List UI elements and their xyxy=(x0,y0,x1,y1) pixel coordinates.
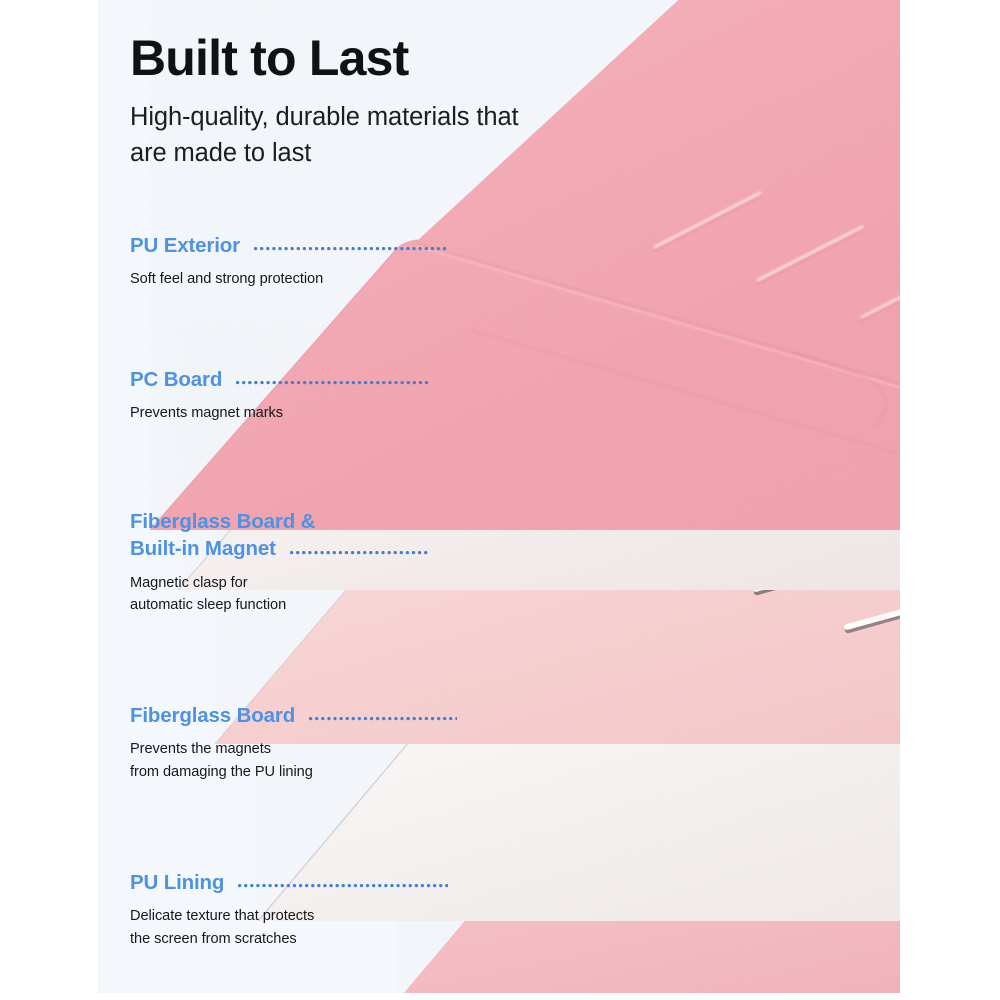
product-feature-page: Built to Last High-quality, durable mate… xyxy=(0,0,1000,1000)
callout-description: Magnetic clasp for automatic sleep funct… xyxy=(130,572,430,616)
callout-title: PU Lining xyxy=(130,869,224,896)
callout-description: Prevents the magnets from damaging the P… xyxy=(130,738,457,782)
callout-description: Soft feel and strong protection xyxy=(130,268,446,290)
callout-description: Delicate texture that protects the scree… xyxy=(130,905,448,949)
leader-line-dotted xyxy=(290,548,430,559)
callout-title: PC Board xyxy=(130,366,222,393)
callout-description: Prevents magnet marks xyxy=(130,402,428,424)
callout-title-line-1: Fiberglass Board & xyxy=(130,508,430,535)
callout-pu-lining: PU Lining Delicate texture that protects… xyxy=(130,869,448,950)
callout-title-row: Fiberglass Board xyxy=(130,702,457,729)
callout-title-row: PC Board xyxy=(130,366,428,393)
callout-pu-exterior: PU Exterior Soft feel and strong protect… xyxy=(130,232,446,291)
leader-line-dotted xyxy=(309,714,457,725)
leader-line-dotted xyxy=(254,244,446,255)
callout-title: PU Exterior xyxy=(130,232,240,259)
callout-fiberglass-board: Fiberglass Board Prevents the magnets fr… xyxy=(130,702,457,783)
callout-title-row: Built-in Magnet xyxy=(130,535,430,562)
leader-line-dotted xyxy=(238,881,448,892)
callout-title: Fiberglass Board xyxy=(130,702,295,729)
callout-title-line-2: Built-in Magnet xyxy=(130,535,276,562)
callout-pc-board: PC Board Prevents magnet marks xyxy=(130,366,428,425)
heading-block: Built to Last High-quality, durable mate… xyxy=(130,32,650,171)
page-subtitle: High-quality, durable materials that are… xyxy=(130,99,550,171)
callout-title-row: PU Exterior xyxy=(130,232,446,259)
page-title: Built to Last xyxy=(130,32,650,85)
callout-title-row: PU Lining xyxy=(130,869,448,896)
leader-line-dotted xyxy=(236,378,428,389)
callout-fiberglass-board-magnet: Fiberglass Board & Built-in Magnet Magne… xyxy=(130,508,430,616)
